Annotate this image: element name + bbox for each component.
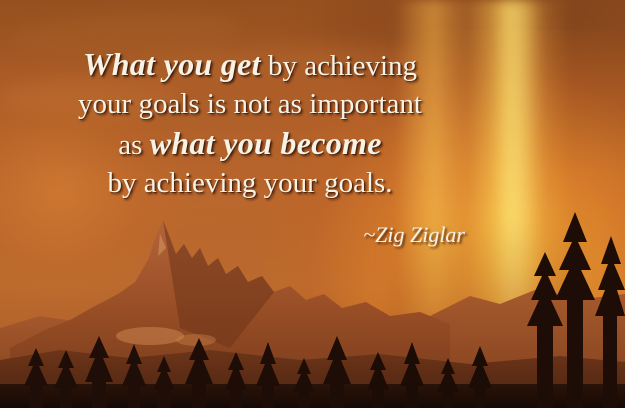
- snow-patch: [176, 334, 216, 346]
- quote-emphasis-1: What you get: [83, 46, 261, 82]
- quote-line-4: by achieving your goals.: [0, 165, 500, 203]
- quote-line-1-rest: by achieving: [261, 50, 417, 82]
- tall-conifer-secondary: [527, 252, 563, 408]
- quote-poster: What you get by achieving your goals is …: [0, 0, 625, 408]
- tall-conifer-primary: [555, 212, 595, 408]
- quote-emphasis-2: what you become: [150, 125, 382, 161]
- quote-line-1: What you get by achieving: [0, 44, 500, 86]
- quote-block: What you get by achieving your goals is …: [0, 44, 500, 203]
- quote-line-3-lead: as: [118, 129, 149, 161]
- snow-patch: [116, 327, 184, 345]
- quote-attribution: ~Zig Ziglar: [0, 222, 465, 248]
- quote-line-3: as what you become: [0, 123, 500, 165]
- tall-conifer-tertiary: [595, 236, 625, 408]
- tall-conifer-trees-right: [515, 150, 625, 408]
- quote-line-2: your goals is not as important: [0, 86, 500, 124]
